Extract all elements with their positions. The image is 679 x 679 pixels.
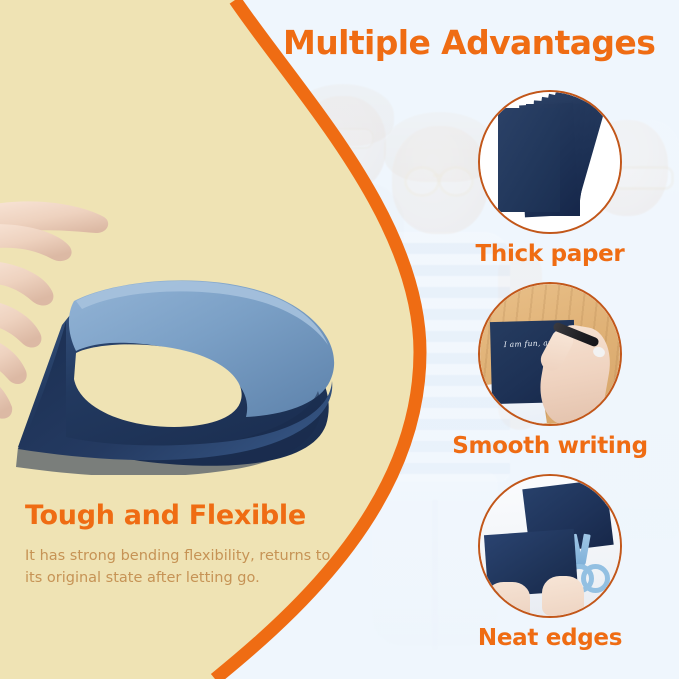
feature-thick-paper: Thick paper	[435, 90, 665, 267]
feature-label: Thick paper	[435, 241, 665, 267]
left-description: It has strong bending flexibility, retur…	[25, 545, 345, 590]
bending-paper-photo	[0, 175, 345, 475]
left-text-block: Tough and Flexible It has strong bending…	[25, 500, 345, 590]
feature-neat-edges: Neat edges	[435, 474, 665, 651]
page-title: Multiple Advantages	[283, 23, 655, 62]
feature-image-circle	[478, 90, 622, 234]
feature-smooth-writing: I am fun, and Smooth writing	[435, 282, 665, 459]
stack-of-paper-sheets-icon	[480, 92, 620, 232]
feature-label: Neat edges	[435, 625, 665, 651]
hand-writing-with-pen-icon: I am fun, and	[480, 284, 620, 424]
scissors-cutting-paper-icon	[480, 476, 620, 616]
feature-image-circle: I am fun, and	[478, 282, 622, 426]
navy-cardstock-sheet	[16, 280, 338, 475]
feature-image-circle	[478, 474, 622, 618]
feature-label: Smooth writing	[435, 433, 665, 459]
left-heading: Tough and Flexible	[25, 500, 345, 531]
poster-canvas: Multiple Advantages Tough and Flexible I…	[0, 0, 679, 679]
